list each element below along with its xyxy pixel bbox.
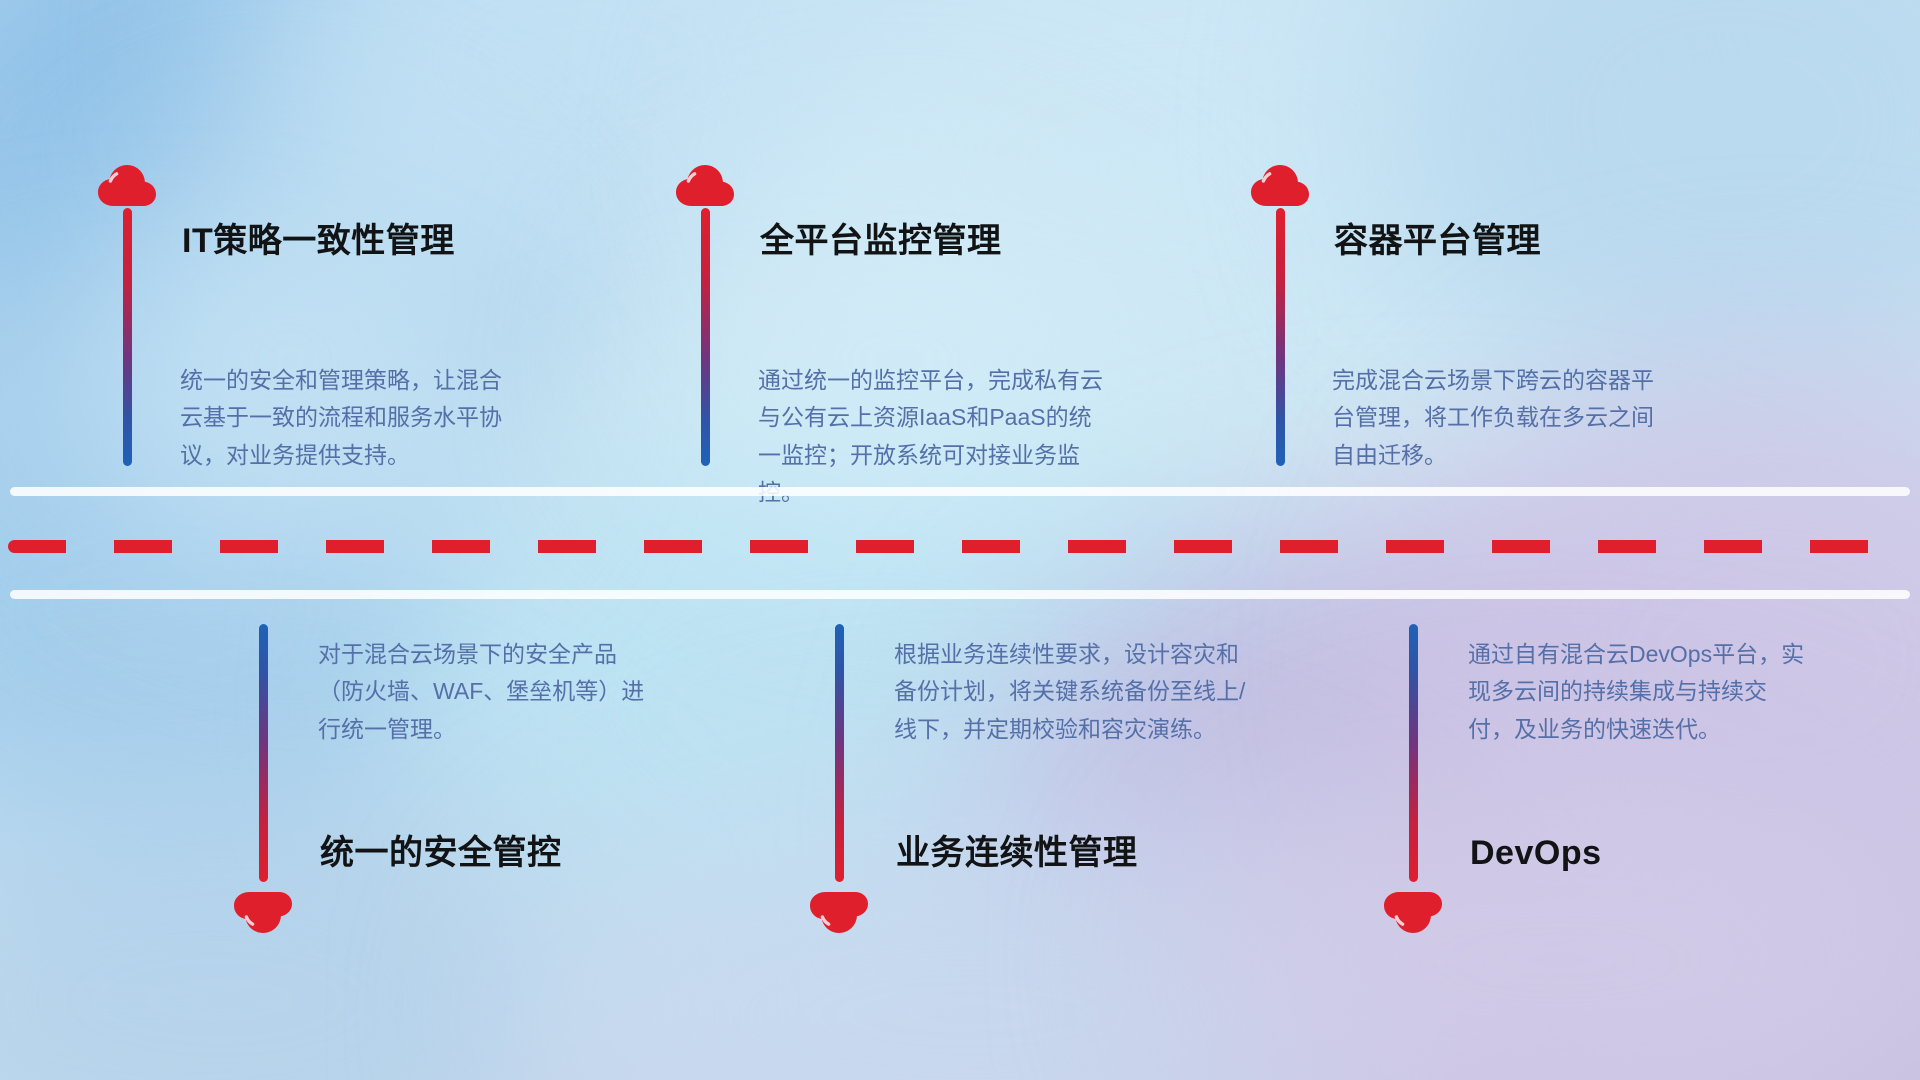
card-body: 根据业务连续性要求，设计容灾和备份计划，将关键系统备份至线上/线下，并定期校验和… — [894, 636, 1246, 748]
card-heading: DevOps — [1470, 836, 1602, 870]
pin-line — [259, 624, 268, 882]
cloud-icon — [1249, 160, 1311, 208]
card-body: 对于混合云场景下的安全产品（防火墙、WAF、堡垒机等）进行统一管理。 — [318, 636, 658, 748]
card-body: 统一的安全和管理策略，让混合云基于一致的流程和服务水平协议，对业务提供支持。 — [180, 362, 520, 474]
card-heading: IT策略一致性管理 — [182, 224, 455, 258]
red-dashed-divider — [8, 540, 1912, 553]
divider-line-bottom — [10, 590, 1910, 599]
card-body: 完成混合云场景下跨云的容器平台管理，将工作负载在多云之间自由迁移。 — [1332, 362, 1672, 474]
cloud-icon — [674, 160, 736, 208]
card-heading: 全平台监控管理 — [760, 224, 1002, 258]
card-heading: 容器平台管理 — [1334, 224, 1541, 258]
cloud-icon — [1382, 890, 1444, 938]
pin-line — [835, 624, 844, 882]
cloud-icon — [96, 160, 158, 208]
cloud-icon — [808, 890, 870, 938]
pin-line — [701, 208, 710, 466]
pin-line — [123, 208, 132, 466]
card-body: 通过自有混合云DevOps平台，实现多云间的持续集成与持续交付，及业务的快速迭代… — [1468, 636, 1808, 748]
pin-line — [1276, 208, 1285, 466]
cloud-icon — [232, 890, 294, 938]
card-heading: 业务连续性管理 — [896, 836, 1138, 870]
divider-line-top — [10, 487, 1910, 496]
card-heading: 统一的安全管控 — [320, 836, 562, 870]
pin-line — [1409, 624, 1418, 882]
